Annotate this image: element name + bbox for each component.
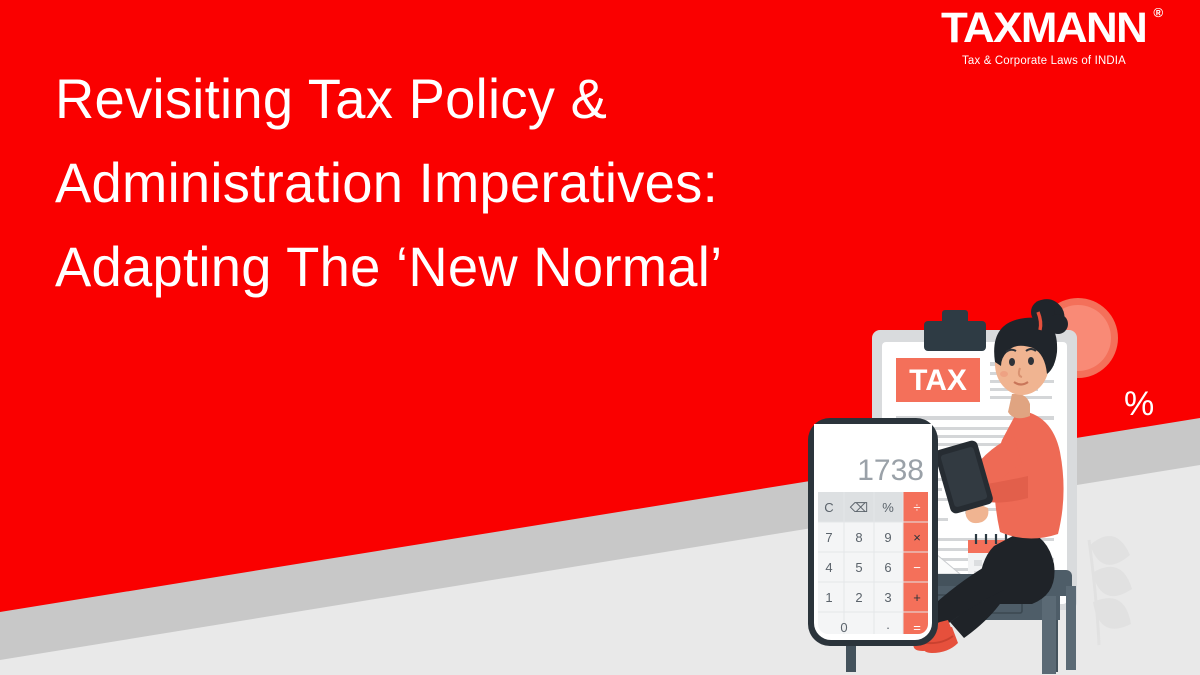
tax-illustration: TAX bbox=[790, 290, 1200, 675]
logo-tagline: Tax & Corporate Laws of INDIA bbox=[931, 54, 1157, 68]
calc-key-divide[interactable]: ÷ bbox=[913, 500, 920, 515]
calc-key-multiply[interactable]: × bbox=[913, 530, 921, 545]
logo-wordmark: TAXMANN ® bbox=[941, 6, 1146, 50]
calc-key-minus[interactable]: − bbox=[913, 560, 921, 575]
calc-key-8[interactable]: 8 bbox=[855, 530, 862, 545]
headline-line-2: Administration Imperatives: bbox=[55, 141, 928, 225]
calc-key-equals[interactable]: = bbox=[913, 620, 921, 635]
calc-key-6[interactable]: 6 bbox=[884, 560, 891, 575]
calc-key-7[interactable]: 7 bbox=[825, 530, 832, 545]
calc-key-3[interactable]: 3 bbox=[884, 590, 891, 605]
tax-label-text: TAX bbox=[909, 364, 967, 397]
calc-key-5[interactable]: 5 bbox=[855, 560, 862, 575]
logo-wordmark-text: TAXMANN bbox=[941, 4, 1146, 52]
calc-key-4[interactable]: 4 bbox=[825, 560, 832, 575]
percent-icon: % bbox=[1124, 385, 1154, 423]
calc-key-c[interactable]: C bbox=[824, 500, 833, 515]
taxmann-logo: TAXMANN ® Tax & Corporate Laws of INDIA bbox=[930, 6, 1158, 68]
calc-key-plus[interactable]: + bbox=[913, 590, 921, 605]
calc-key-decimal[interactable]: · bbox=[886, 620, 890, 635]
headline-line-1: Revisiting Tax Policy & bbox=[55, 57, 928, 141]
registered-trademark-icon: ® bbox=[1154, 6, 1162, 19]
taxmann-promo-banner: TAXMANN ® Tax & Corporate Laws of INDIA … bbox=[0, 0, 1200, 675]
calc-key-percent[interactable]: % bbox=[882, 500, 894, 515]
calc-key-2[interactable]: 2 bbox=[855, 590, 862, 605]
calc-key-backspace[interactable]: ⌫ bbox=[850, 500, 868, 515]
tax-label: TAX bbox=[896, 358, 980, 402]
page-title: Revisiting Tax Policy & Administration I… bbox=[55, 57, 928, 309]
calc-key-1[interactable]: 1 bbox=[825, 590, 832, 605]
decorative-plant-icon bbox=[1089, 536, 1132, 645]
phone-calculator[interactable]: 1738 C bbox=[808, 418, 938, 646]
calc-key-0[interactable]: 0 bbox=[840, 620, 847, 635]
calc-key-9[interactable]: 9 bbox=[884, 530, 891, 545]
calculator-keypad[interactable]: C ⌫ % ÷ 7 8 9 × 4 5 6 − bbox=[814, 492, 932, 640]
calculator-display-value: 1738 bbox=[857, 454, 924, 487]
